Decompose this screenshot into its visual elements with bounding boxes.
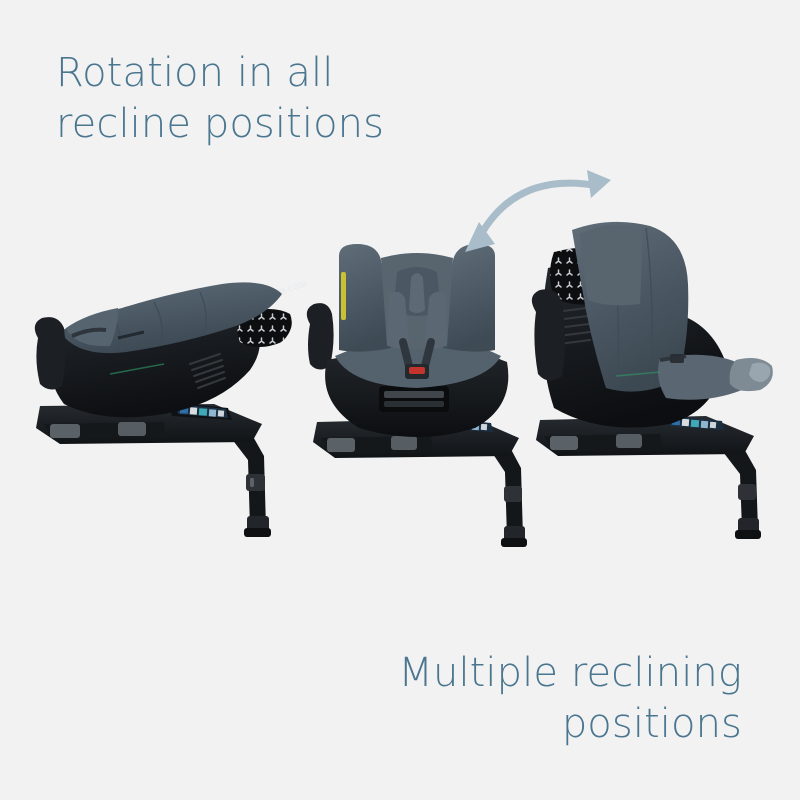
headline-reclining: Multiple reclining positions [398, 648, 742, 750]
headline-rotation: Rotation in all recline positions [56, 48, 384, 150]
belt-slot [379, 386, 449, 412]
side-bolster [532, 289, 565, 380]
car-seat-reclined: MAXI-COSI [14, 228, 334, 548]
buckle-release [409, 367, 425, 374]
product-feature-image: Rotation in all recline positions [0, 0, 800, 800]
arrow-head-right [587, 170, 611, 198]
belt-guide-marker [341, 272, 346, 320]
car-seat-upright: MAXI-COSI [520, 208, 800, 553]
